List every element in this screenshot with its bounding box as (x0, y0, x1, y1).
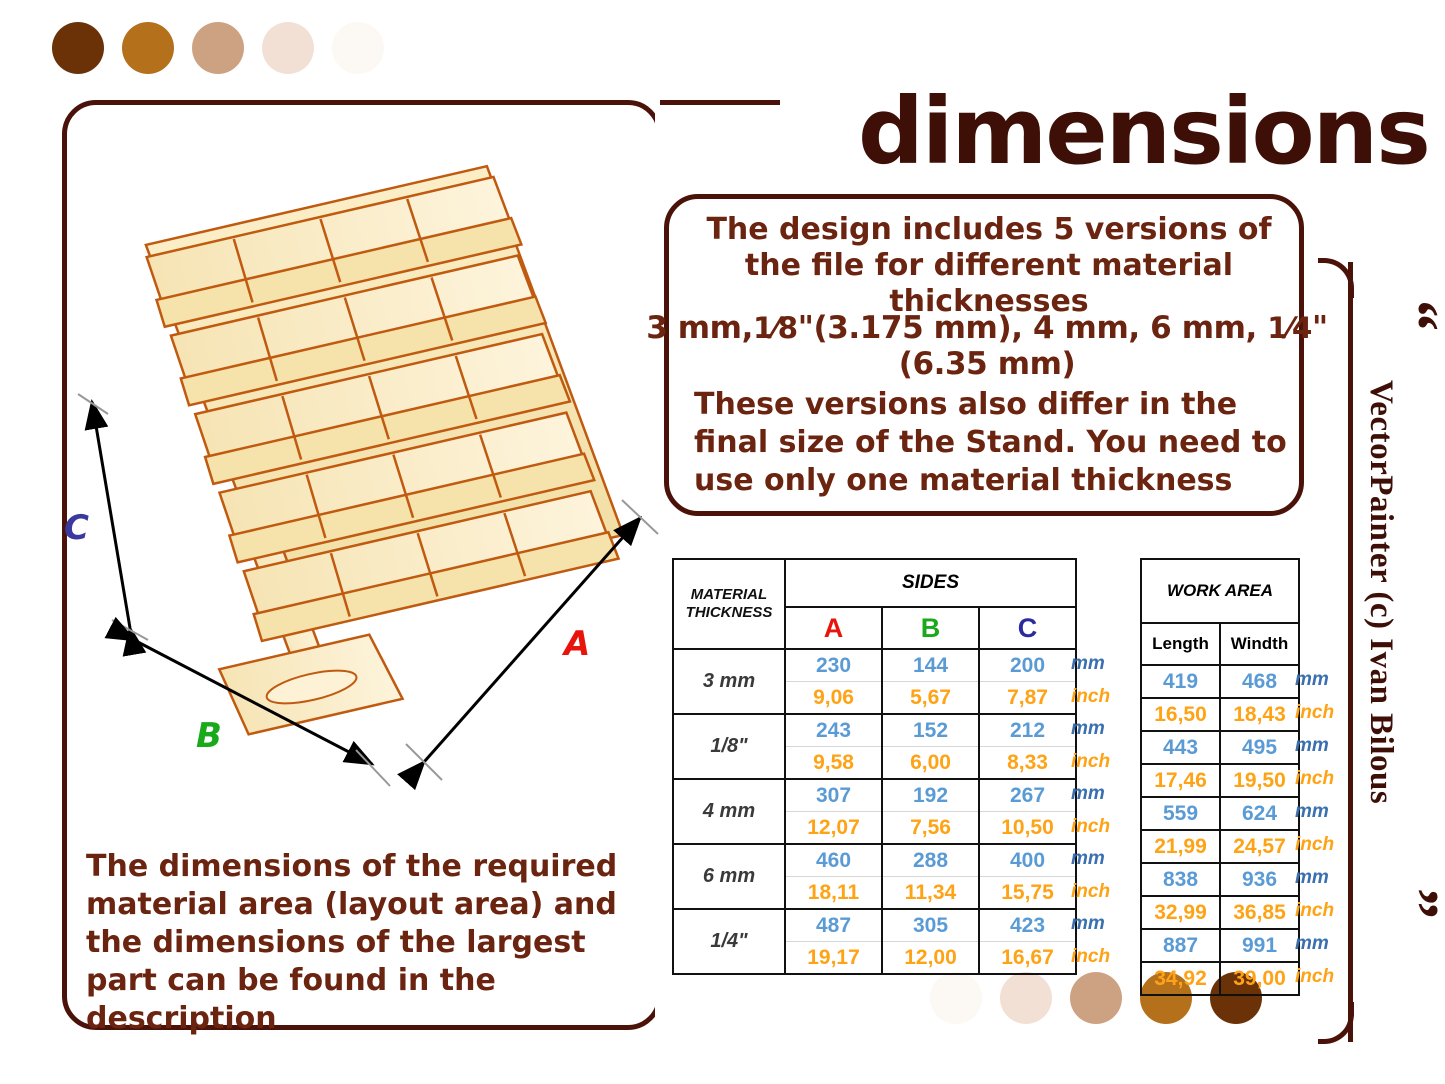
fraction-one-eighth: 1⁄8 (753, 311, 798, 345)
unit-label-mm: mm (1295, 933, 1329, 955)
cell-inch: 32,99 (1141, 896, 1220, 929)
unit-label-mm: mm (1071, 783, 1105, 805)
page-title: dimensions (858, 78, 1429, 185)
unit-label-inch: inch (1295, 966, 1334, 988)
table-row: 16,5018,43 (1141, 698, 1299, 731)
stand-illustration (80, 160, 660, 760)
unit-label-inch: inch (1071, 686, 1110, 708)
frac1-numerator: 1 (753, 311, 773, 345)
color-swatch (52, 22, 104, 74)
cell-inch: 7,56 (882, 812, 979, 845)
cell-inch: 15,75 (979, 877, 1076, 910)
cell-mm: 267 (979, 779, 1076, 812)
cell-inch: 9,06 (785, 682, 882, 715)
cell-mm: 624 (1220, 797, 1299, 830)
cell-mm: 495 (1220, 731, 1299, 764)
fraction-one-quarter: 1⁄4 (1267, 311, 1312, 345)
table-row: 4 mm307192267 (673, 779, 1076, 812)
table-row: 1/8"243152212 (673, 714, 1076, 747)
cell-inch: 19,50 (1220, 764, 1299, 797)
cell-mm: 443 (1141, 731, 1220, 764)
thickness-mid: "(3.175 mm), 4 mm, 6 mm, (798, 310, 1257, 346)
frame-top-extension (660, 100, 780, 105)
table-header-col-a: A (785, 607, 882, 649)
unit-label-inch: inch (1295, 834, 1334, 856)
cell-mm: 936 (1220, 863, 1299, 896)
dimension-label-b: B (196, 716, 222, 756)
color-swatch (192, 22, 244, 74)
cell-mm: 230 (785, 649, 882, 682)
watermark-bracket-line (1348, 262, 1353, 1042)
cell-inch: 24,57 (1220, 830, 1299, 863)
cell-mm: 468 (1220, 665, 1299, 698)
cell-mm: 887 (1141, 929, 1220, 962)
cell-mm: 838 (1141, 863, 1220, 896)
cell-thickness: 6 mm (673, 844, 785, 909)
unit-label-inch: inch (1071, 946, 1110, 968)
info-text-sizes: These versions also differ in the final … (694, 386, 1294, 500)
table-header-col-length: Length (1141, 623, 1220, 665)
table-header-sides: SIDES (785, 559, 1076, 607)
unit-label-mm: mm (1295, 801, 1329, 823)
watermark-text: VectorPainter (c) Ivan Bilous (1362, 380, 1399, 804)
cell-inch: 9,58 (785, 747, 882, 780)
cell-inch: 7,87 (979, 682, 1076, 715)
table-row: 419468 (1141, 665, 1299, 698)
unit-label-inch: inch (1071, 816, 1110, 838)
cell-mm: 305 (882, 909, 979, 942)
table-header-col-b: B (882, 607, 979, 649)
cell-inch: 39,00 (1220, 962, 1299, 995)
unit-label-mm: mm (1071, 653, 1105, 675)
unit-label-mm: mm (1295, 735, 1329, 757)
unit-label-mm: mm (1071, 913, 1105, 935)
table-row: 17,4619,50 (1141, 764, 1299, 797)
color-swatch (1070, 972, 1122, 1024)
cell-inch: 16,50 (1141, 698, 1220, 731)
cell-inch: 11,34 (882, 877, 979, 910)
cell-mm: 487 (785, 909, 882, 942)
cell-inch: 21,99 (1141, 830, 1220, 863)
cell-mm: 144 (882, 649, 979, 682)
cell-mm: 460 (785, 844, 882, 877)
cell-inch: 10,50 (979, 812, 1076, 845)
cell-thickness: 1/4" (673, 909, 785, 974)
cell-inch: 6,00 (882, 747, 979, 780)
cell-mm: 288 (882, 844, 979, 877)
color-swatch (122, 22, 174, 74)
cell-mm: 200 (979, 649, 1076, 682)
unit-label-mm: mm (1071, 718, 1105, 740)
table-row: 887991 (1141, 929, 1299, 962)
unit-label-inch: inch (1295, 702, 1334, 724)
cell-inch: 18,43 (1220, 698, 1299, 731)
frac2-numerator: 1 (1267, 311, 1287, 345)
frac2-denominator: 4 (1292, 311, 1312, 345)
dimension-label-c: C (64, 508, 89, 548)
table-row: 443495 (1141, 731, 1299, 764)
cell-inch: 17,46 (1141, 764, 1220, 797)
cell-inch: 12,00 (882, 942, 979, 975)
table-row: 3 mm230144200 (673, 649, 1076, 682)
cell-inch: 8,33 (979, 747, 1076, 780)
unit-label-inch: inch (1295, 900, 1334, 922)
description-note: The dimensions of the required material … (86, 848, 666, 1038)
cell-thickness: 1/8" (673, 714, 785, 779)
cell-mm: 307 (785, 779, 882, 812)
cell-inch: 34,92 (1141, 962, 1220, 995)
unit-label-inch: inch (1071, 881, 1110, 903)
unit-label-inch: inch (1295, 768, 1334, 790)
sides-table: MATERIALTHICKNESSSIDESABC3 mm2301442009,… (672, 558, 1077, 975)
cell-inch: 36,85 (1220, 896, 1299, 929)
cell-mm: 559 (1141, 797, 1220, 830)
unit-label-inch: inch (1071, 751, 1110, 773)
color-swatch (262, 22, 314, 74)
unit-label-mm: mm (1071, 848, 1105, 870)
color-swatch (1000, 972, 1052, 1024)
cell-mm: 423 (979, 909, 1076, 942)
table-row: 559624 (1141, 797, 1299, 830)
frac1-denominator: 8 (778, 311, 798, 345)
cell-mm: 152 (882, 714, 979, 747)
cell-mm: 192 (882, 779, 979, 812)
unit-label-mm: mm (1295, 867, 1329, 889)
color-swatch (332, 22, 384, 74)
color-swatch (930, 972, 982, 1024)
cell-inch: 12,07 (785, 812, 882, 845)
cell-mm: 212 (979, 714, 1076, 747)
cell-mm: 243 (785, 714, 882, 747)
table-row: 32,9936,85 (1141, 896, 1299, 929)
table-row: 838936 (1141, 863, 1299, 896)
table-row: 34,9239,00 (1141, 962, 1299, 995)
table-row: 6 mm460288400 (673, 844, 1076, 877)
cell-thickness: 3 mm (673, 649, 785, 714)
unit-label-mm: mm (1295, 669, 1329, 691)
table-header-material-thickness: MATERIALTHICKNESS (673, 559, 785, 649)
cell-inch: 18,11 (785, 877, 882, 910)
cell-inch: 5,67 (882, 682, 979, 715)
table-header-col-windth: Windth (1220, 623, 1299, 665)
table-row: 21,9924,57 (1141, 830, 1299, 863)
work-area-table: WORK AREALengthWindth41946816,5018,43443… (1140, 558, 1300, 996)
cell-mm: 400 (979, 844, 1076, 877)
table-row: 1/4"487305423 (673, 909, 1076, 942)
cell-thickness: 4 mm (673, 779, 785, 844)
table-header-col-c: C (979, 607, 1076, 649)
cell-mm: 991 (1220, 929, 1299, 962)
thickness-pre: 3 mm, (646, 310, 753, 346)
quote-open-icon: “ (1380, 300, 1445, 331)
dimension-label-a: A (564, 624, 590, 664)
quote-close-icon: ” (1380, 888, 1445, 919)
cell-mm: 419 (1141, 665, 1220, 698)
cell-inch: 19,17 (785, 942, 882, 975)
poster-canvas: dimensions The design includes 5 version… (0, 0, 1445, 1084)
info-text-versions: The design includes 5 versions of the fi… (694, 212, 1284, 320)
table-header-work-area: WORK AREA (1141, 559, 1299, 623)
color-swatch-row-top (52, 22, 384, 74)
cell-inch: 16,67 (979, 942, 1076, 975)
info-text-thicknesses: 3 mm,1⁄8"(3.175 mm), 4 mm, 6 mm, 1⁄4"(6.… (628, 310, 1346, 382)
